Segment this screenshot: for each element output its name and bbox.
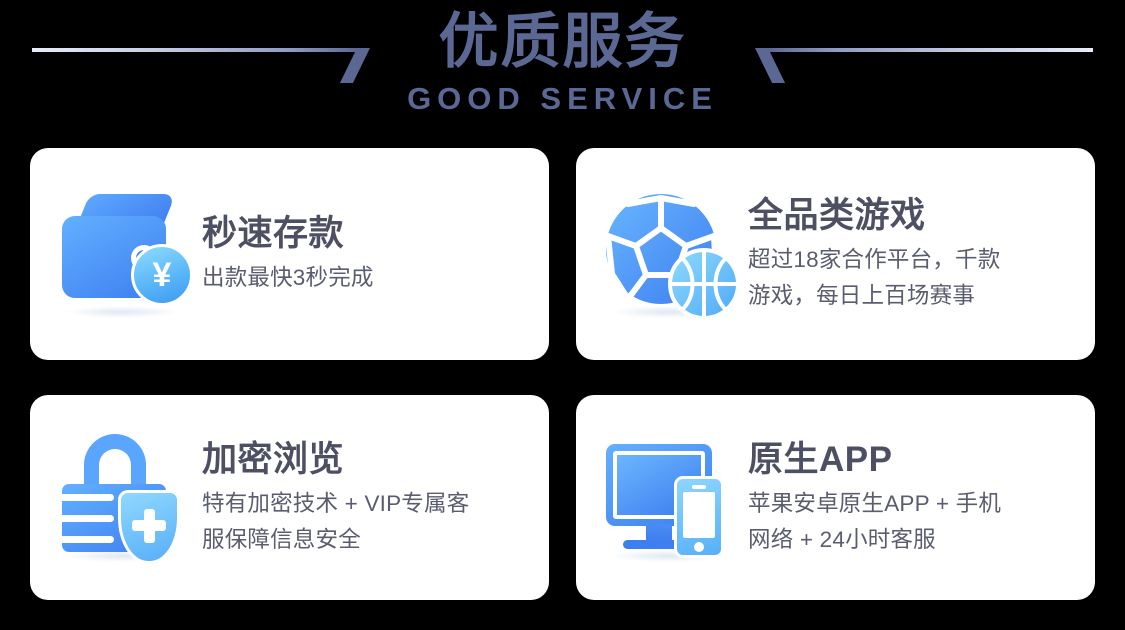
phone-home-button-icon bbox=[694, 542, 704, 552]
soccer-basketball-icon bbox=[602, 184, 742, 324]
page-title: 优质服务 bbox=[0, 4, 1125, 80]
card-title: 秒速存款 bbox=[202, 212, 531, 256]
page-subtitle: GOOD SERVICE bbox=[0, 81, 1125, 117]
phone-icon bbox=[674, 476, 724, 558]
monitor-neck-icon bbox=[646, 524, 672, 542]
lock-slot-icon bbox=[62, 515, 114, 522]
feature-card-games[interactable]: 全品类游戏 超过18家合作平台，千款游戏，每日上百场赛事 bbox=[576, 148, 1095, 360]
feature-card-grid: ¥ 秒速存款 出款最快3秒完成 bbox=[30, 148, 1095, 600]
icon-shadow bbox=[66, 306, 178, 318]
balls-svg-icon bbox=[604, 192, 740, 318]
card-title: 原生APP bbox=[748, 438, 1077, 482]
card-text-block: 原生APP 苹果安卓原生APP + 手机网络 + 24小时客服 bbox=[742, 438, 1077, 558]
feature-card-native-app[interactable]: 原生APP 苹果安卓原生APP + 手机网络 + 24小时客服 bbox=[576, 395, 1095, 600]
lock-shield-icon bbox=[56, 428, 196, 568]
card-description: 超过18家合作平台，千款游戏，每日上百场赛事 bbox=[748, 242, 1077, 314]
yen-coin-icon: ¥ bbox=[131, 244, 193, 306]
card-text-block: 全品类游戏 超过18家合作平台，千款游戏，每日上百场赛事 bbox=[742, 194, 1077, 314]
page-header: 优质服务 GOOD SERVICE bbox=[0, 0, 1125, 145]
lock-slot-icon bbox=[62, 494, 114, 501]
feature-card-encryption[interactable]: 加密浏览 特有加密技术 + VIP专属客服保障信息安全 bbox=[30, 395, 549, 600]
monitor-phone-icon bbox=[602, 428, 742, 568]
lock-slot-icon bbox=[62, 536, 114, 543]
card-title: 全品类游戏 bbox=[748, 194, 1077, 238]
card-text-block: 加密浏览 特有加密技术 + VIP专属客服保障信息安全 bbox=[196, 438, 531, 558]
card-text-block: 秒速存款 出款最快3秒完成 bbox=[196, 212, 531, 296]
card-title: 加密浏览 bbox=[202, 438, 531, 482]
card-description: 出款最快3秒完成 bbox=[202, 260, 531, 296]
card-description: 苹果安卓原生APP + 手机网络 + 24小时客服 bbox=[748, 486, 1077, 558]
header-title-block: 优质服务 GOOD SERVICE bbox=[0, 4, 1125, 117]
card-description: 特有加密技术 + VIP专属客服保障信息安全 bbox=[202, 486, 531, 558]
wallet-yen-icon: ¥ bbox=[56, 184, 196, 324]
phone-screen-icon bbox=[683, 492, 715, 538]
phone-speaker-icon bbox=[692, 485, 706, 489]
feature-card-deposit[interactable]: ¥ 秒速存款 出款最快3秒完成 bbox=[30, 148, 549, 360]
cross-horizontal-icon bbox=[132, 520, 166, 531]
